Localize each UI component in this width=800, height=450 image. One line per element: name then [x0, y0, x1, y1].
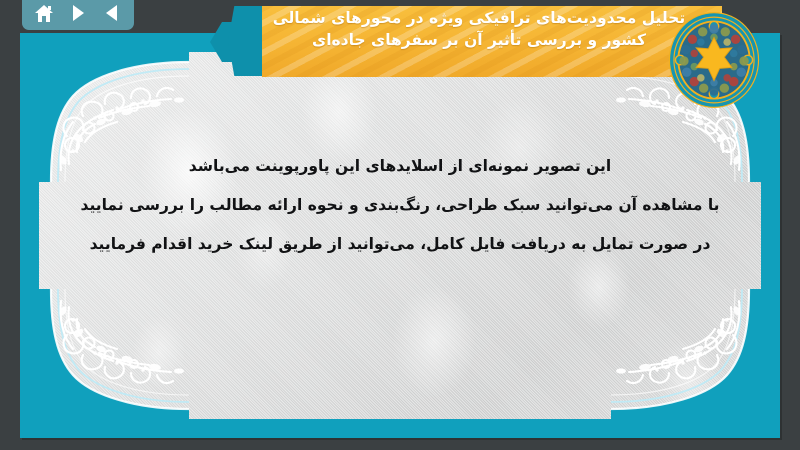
forward-button[interactable]	[65, 1, 91, 25]
corner-arabesque-bottom-left-icon	[39, 289, 189, 419]
forward-triangle-icon	[70, 4, 86, 22]
slide-content-area: این تصویر نمونه‌ای از اسلایدهای این پاور…	[39, 52, 761, 419]
slide-frame: این تصویر نمونه‌ای از اسلایدهای این پاور…	[20, 33, 780, 438]
corner-arabesque-bottom-right-icon	[611, 289, 761, 419]
home-button[interactable]	[31, 1, 57, 25]
navigation-bar	[22, 0, 134, 30]
back-button[interactable]	[99, 1, 125, 25]
home-icon	[34, 4, 54, 23]
body-line-3: در صورت تمایل به دریافت فایل کامل، می‌تو…	[69, 225, 731, 264]
slide-body-text: این تصویر نمونه‌ای از اسلایدهای این پاور…	[69, 147, 731, 263]
back-triangle-icon	[104, 4, 120, 22]
body-line-2: با مشاهده آن می‌توانید سبک طراحی، رنگ‌بن…	[69, 186, 731, 225]
slide-viewer: این تصویر نمونه‌ای از اسلایدهای این پاور…	[0, 0, 800, 450]
body-line-1: این تصویر نمونه‌ای از اسلایدهای این پاور…	[69, 147, 731, 186]
